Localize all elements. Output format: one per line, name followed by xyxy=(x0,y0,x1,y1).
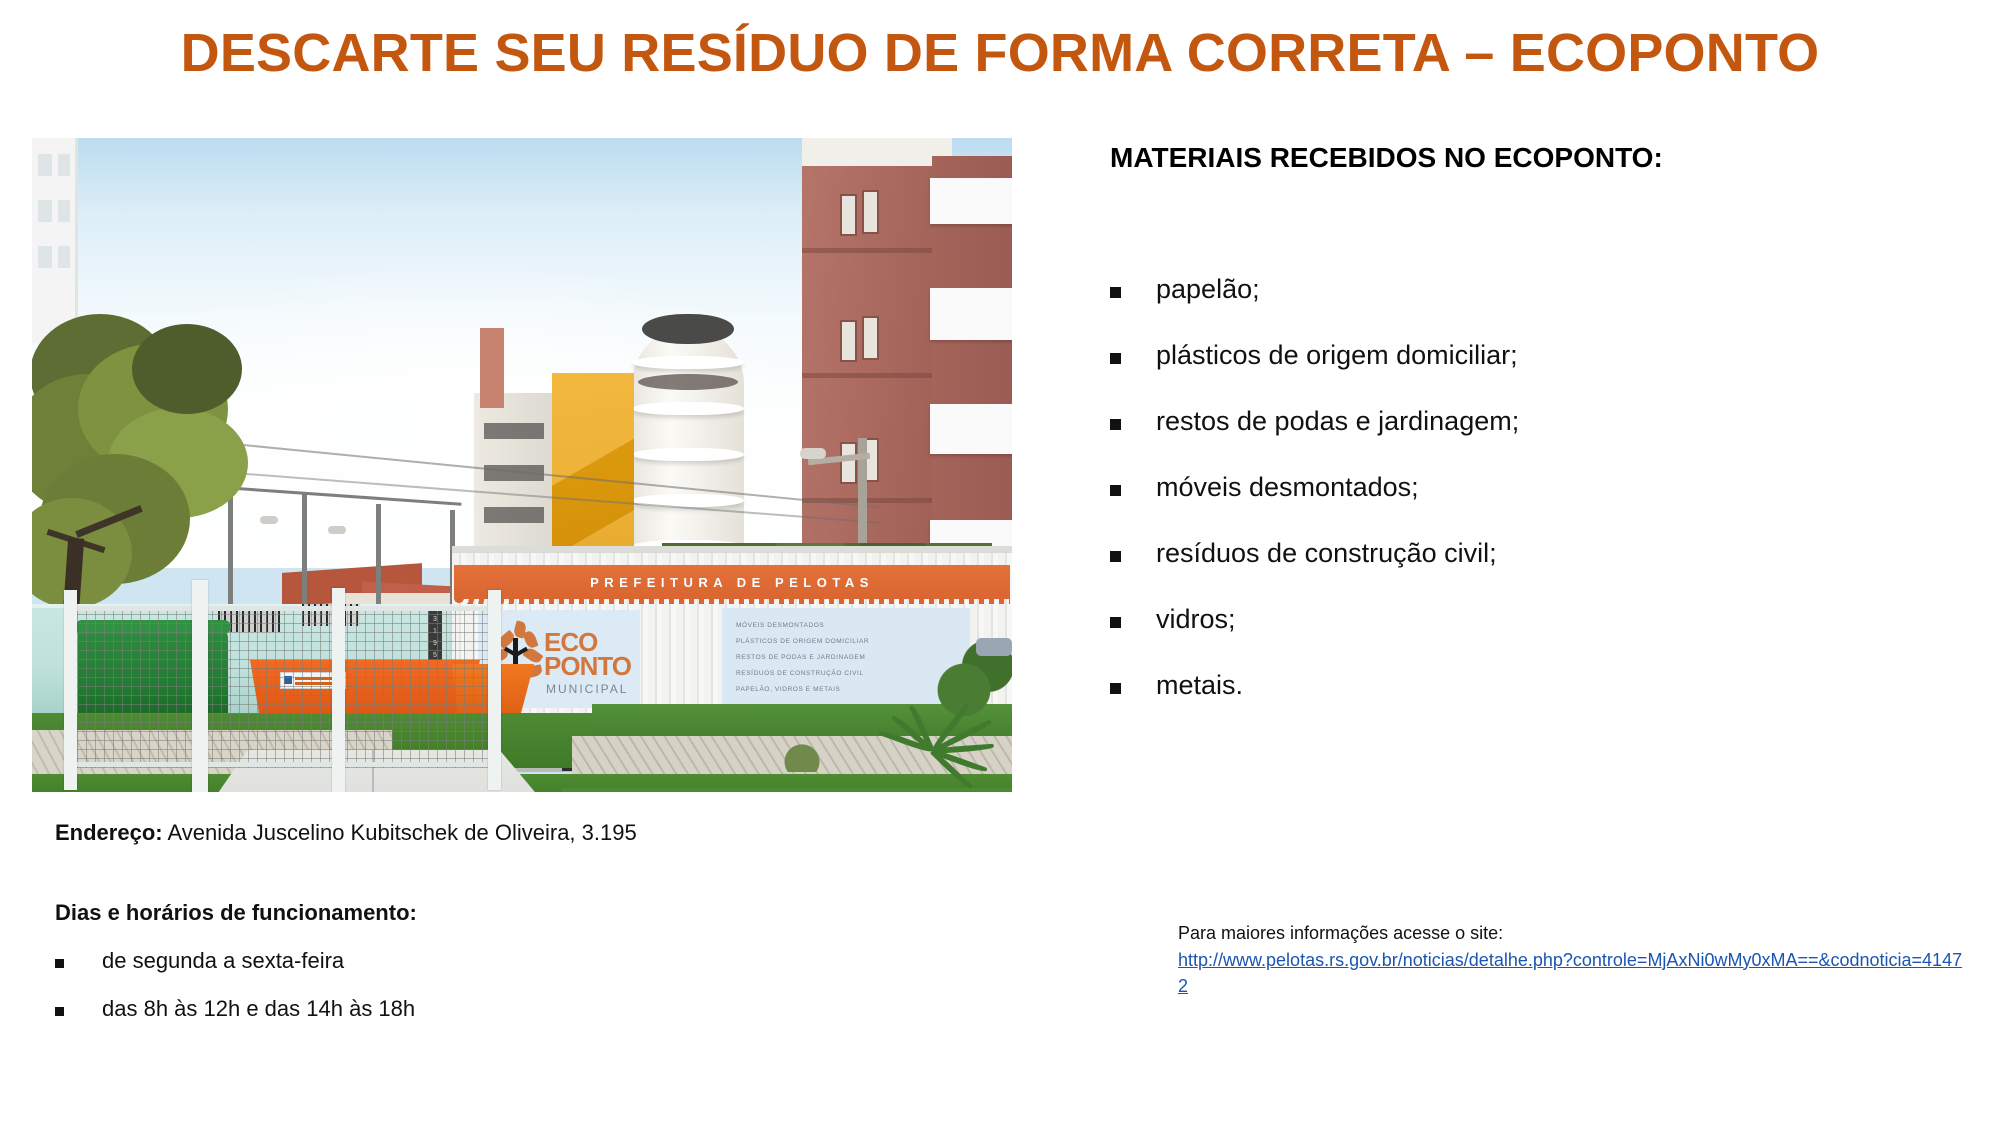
list-item: metais. xyxy=(1110,672,1910,699)
fence-post xyxy=(376,504,381,616)
chimney xyxy=(480,328,504,408)
sign-list-item: PLÁSTICOS DE ORIGEM DOMICILIAR xyxy=(736,638,869,645)
materials-heading: MATERIAIS RECEBIDOS NO ECOPONTO: xyxy=(1110,142,1663,174)
list-item: resíduos de construção civil; xyxy=(1110,540,1910,567)
hours-heading: Dias e horários de funcionamento: xyxy=(55,900,417,926)
gate-rail xyxy=(68,762,498,767)
address-label: Endereço: xyxy=(55,820,163,845)
more-info-block: Para maiores informações acesse o site: … xyxy=(1178,920,1968,1000)
fence-post xyxy=(302,494,307,614)
material-item-label: restos de podas e jardinagem; xyxy=(1156,408,1519,435)
ecoponto-photo: PREFEITURA DE PELOTAS ECO PONTO MUNICIPA… xyxy=(32,138,1012,792)
list-item: papelão; xyxy=(1110,276,1910,303)
slide-root: DESCARTE SEU RESÍDUO DE FORMA CORRETA – … xyxy=(0,0,2000,1125)
bullet-square-icon xyxy=(55,959,64,968)
sign-list-item: PAPELÃO, VIDROS E METAIS xyxy=(736,686,840,693)
sign-list-item: MÓVEIS DESMONTADOS xyxy=(736,622,824,629)
material-item-label: metais. xyxy=(1156,672,1243,699)
gate-post xyxy=(332,588,345,792)
more-info-link[interactable]: http://www.pelotas.rs.gov.br/noticias/de… xyxy=(1178,947,1968,1000)
gate-rail xyxy=(68,606,498,611)
list-item: móveis desmontados; xyxy=(1110,474,1910,501)
bullet-square-icon xyxy=(55,1007,64,1016)
parked-car xyxy=(976,638,1012,656)
prefeitura-banner: PREFEITURA DE PELOTAS xyxy=(454,565,1010,599)
hours-item-label: de segunda a sexta-feira xyxy=(102,950,344,972)
address-line: Endereço: Avenida Juscelino Kubitschek d… xyxy=(55,820,637,846)
list-item: vidros; xyxy=(1110,606,1910,633)
shrub xyxy=(772,738,832,772)
bullet-square-icon xyxy=(1110,353,1121,364)
gate-post xyxy=(488,590,501,790)
gate-mesh xyxy=(68,606,498,768)
list-item: restos de podas e jardinagem; xyxy=(1110,408,1910,435)
bullet-square-icon xyxy=(1110,551,1121,562)
list-item: plásticos de origem domiciliar; xyxy=(1110,342,1910,369)
bullet-square-icon xyxy=(1110,287,1121,298)
address-value: Avenida Juscelino Kubitschek de Oliveira… xyxy=(168,820,637,845)
materials-list: papelão; plásticos de origem domiciliar;… xyxy=(1110,276,1910,738)
gate-post xyxy=(192,580,208,792)
yucca-plant xyxy=(872,698,1002,792)
more-info-label: Para maiores informações acesse o site: xyxy=(1178,920,1968,947)
logo-line-ponto: PONTO xyxy=(544,654,631,679)
page-title: DESCARTE SEU RESÍDUO DE FORMA CORRETA – … xyxy=(0,22,2000,84)
material-item-label: móveis desmontados; xyxy=(1156,474,1419,501)
material-item-label: papelão; xyxy=(1156,276,1260,303)
bullet-square-icon xyxy=(1110,419,1121,430)
material-item-label: vidros; xyxy=(1156,606,1236,633)
tree xyxy=(32,288,292,618)
sign-list-item: RESÍDUOS DE CONSTRUÇÃO CIVIL xyxy=(736,670,864,677)
bullet-square-icon xyxy=(1110,683,1121,694)
hours-item-label: das 8h às 12h e das 14h às 18h xyxy=(102,998,415,1020)
logo-line-municipal: MUNICIPAL xyxy=(546,682,628,696)
material-item-label: plásticos de origem domiciliar; xyxy=(1156,342,1518,369)
hours-list: de segunda a sexta-feira das 8h às 12h e… xyxy=(55,950,755,1046)
balcony xyxy=(930,404,1012,454)
bullet-square-icon xyxy=(1110,485,1121,496)
balcony xyxy=(930,288,1012,340)
street-lamp-head xyxy=(800,448,826,459)
small-lamp xyxy=(328,526,346,534)
balcony xyxy=(930,178,1012,224)
bullet-square-icon xyxy=(1110,617,1121,628)
sign-list-item: RESTOS DE PODAS E JARDINAGEM xyxy=(736,654,865,661)
list-item: das 8h às 12h e das 14h às 18h xyxy=(55,998,755,1020)
material-item-label: resíduos de construção civil; xyxy=(1156,540,1497,567)
gate-post xyxy=(64,590,77,790)
prefeitura-banner-text: PREFEITURA DE PELOTAS xyxy=(454,565,1010,599)
list-item: de segunda a sexta-feira xyxy=(55,950,755,972)
